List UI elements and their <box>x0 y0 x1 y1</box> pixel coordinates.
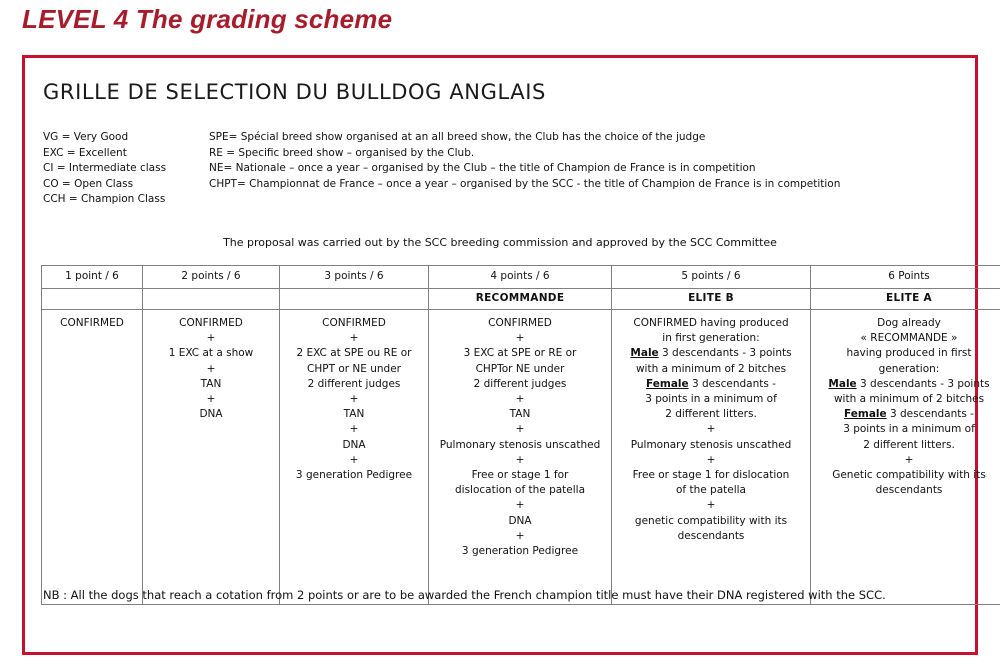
criteria-line: genetic compatibility with its <box>615 514 807 529</box>
table-header-grade-row: RECOMMANDEELITE BELITE A <box>42 289 1000 310</box>
criteria-line: Free or stage 1 for <box>432 468 608 483</box>
abbreviation-legend: VG = Very GoodSPE= Spécial breed show or… <box>43 130 963 208</box>
grade-label-cell <box>280 289 429 310</box>
points-header-cell: 3 points / 6 <box>280 266 429 289</box>
criteria-line: TAN <box>283 407 425 422</box>
points-header-cell: 5 points / 6 <box>612 266 811 289</box>
plus-separator: + <box>146 362 276 377</box>
criteria-line: Male 3 descendants - 3 points <box>615 346 807 361</box>
criteria-line: CONFIRMED <box>45 316 139 331</box>
criteria-line: generation: <box>814 362 1000 377</box>
grade-label-cell: ELITE A <box>811 289 1000 310</box>
grading-table-body: 1 point / 62 points / 63 points / 64 poi… <box>42 266 1000 605</box>
criteria-cell: CONFIRMED <box>42 310 143 605</box>
plus-separator: + <box>814 453 1000 468</box>
legend-description: CHPT= Championnat de France – once a yea… <box>209 177 963 193</box>
criteria-line: 2 EXC at SPE ou RE or <box>283 346 425 361</box>
legend-abbreviation: CI = Intermediate class <box>43 161 209 177</box>
legend-row: VG = Very GoodSPE= Spécial breed show or… <box>43 130 963 146</box>
criteria-line: CONFIRMED <box>432 316 608 331</box>
criteria-line: « RECOMMANDE » <box>814 331 1000 346</box>
legend-abbreviation: CO = Open Class <box>43 177 209 193</box>
legend-description: SPE= Spécial breed show organised at an … <box>209 130 963 146</box>
criteria-cell: CONFIRMED+2 EXC at SPE ou RE orCHPT or N… <box>280 310 429 605</box>
grade-label-cell <box>42 289 143 310</box>
grade-label-cell: ELITE B <box>612 289 811 310</box>
criteria-line: Female 3 descendants - <box>814 407 1000 422</box>
plus-separator: + <box>615 453 807 468</box>
criteria-line: 3 points in a minimum of <box>814 422 1000 437</box>
female-emphasis: Female <box>646 378 689 390</box>
criteria-line: Female 3 descendants - <box>615 377 807 392</box>
document-heading: GRILLE DE SELECTION DU BULLDOG ANGLAIS <box>43 80 546 104</box>
plus-separator: + <box>615 422 807 437</box>
criteria-line: CONFIRMED <box>283 316 425 331</box>
criteria-line: Genetic compatibility with its <box>814 468 1000 483</box>
nb-footer-note: NB : All the dogs that reach a cotation … <box>43 585 943 605</box>
criteria-line: 3 EXC at SPE or RE or <box>432 346 608 361</box>
legend-abbreviation: CCH = Champion Class <box>43 192 209 208</box>
points-header-cell: 4 points / 6 <box>429 266 612 289</box>
legend-description: RE = Specific breed show – organised by … <box>209 146 963 162</box>
female-emphasis: Female <box>844 408 887 420</box>
criteria-line: TAN <box>432 407 608 422</box>
criteria-line: 2 different litters. <box>615 407 807 422</box>
grading-table-wrapper: 1 point / 62 points / 63 points / 64 poi… <box>41 265 965 605</box>
grade-label-cell <box>143 289 280 310</box>
criteria-line: descendants <box>615 529 807 544</box>
criteria-line: dislocation of the patella <box>432 483 608 498</box>
legend-row: CO = Open ClassCHPT= Championnat de Fran… <box>43 177 963 193</box>
legend-row: CCH = Champion Class <box>43 192 963 208</box>
points-header-cell: 1 point / 6 <box>42 266 143 289</box>
plus-separator: + <box>146 331 276 346</box>
table-header-points-row: 1 point / 62 points / 63 points / 64 poi… <box>42 266 1000 289</box>
criteria-line: 3 points in a minimum of <box>615 392 807 407</box>
criteria-line: with a minimum of 2 bitches <box>615 362 807 377</box>
criteria-line: CONFIRMED <box>146 316 276 331</box>
criteria-line: Pulmonary stenosis unscathed <box>615 438 807 453</box>
points-header-cell: 2 points / 6 <box>143 266 280 289</box>
plus-separator: + <box>146 392 276 407</box>
criteria-line: with a minimum of 2 bitches <box>814 392 1000 407</box>
male-emphasis: Male <box>630 347 658 359</box>
criteria-line: Male 3 descendants - 3 points <box>814 377 1000 392</box>
criteria-line: 2 different litters. <box>814 438 1000 453</box>
criteria-line: Dog already <box>814 316 1000 331</box>
points-header-cell: 6 Points <box>811 266 1000 289</box>
criteria-cell: Dog already« RECOMMANDE »having produced… <box>811 310 1000 605</box>
criteria-cell: CONFIRMED+3 EXC at SPE or RE orCHPTor NE… <box>429 310 612 605</box>
criteria-line: Pulmonary stenosis unscathed <box>432 438 608 453</box>
plus-separator: + <box>283 422 425 437</box>
criteria-line: 2 different judges <box>283 377 425 392</box>
plus-separator: + <box>432 392 608 407</box>
criteria-line: in first generation: <box>615 331 807 346</box>
criteria-line: 3 generation Pedigree <box>432 544 608 559</box>
criteria-line: DNA <box>432 514 608 529</box>
criteria-line: CHPTor NE under <box>432 362 608 377</box>
legend-description: NE= Nationale – once a year – organised … <box>209 161 963 177</box>
legend-abbreviation: VG = Very Good <box>43 130 209 146</box>
criteria-line: of the patella <box>615 483 807 498</box>
legend-abbreviation: EXC = Excellent <box>43 146 209 162</box>
plus-separator: + <box>615 498 807 513</box>
criteria-line: Free or stage 1 for dislocation <box>615 468 807 483</box>
male-emphasis: Male <box>828 378 856 390</box>
table-row: CONFIRMEDCONFIRMED+1 EXC at a show+TAN+D… <box>42 310 1000 605</box>
criteria-line: 2 different judges <box>432 377 608 392</box>
legend-row: CI = Intermediate classNE= Nationale – o… <box>43 161 963 177</box>
plus-separator: + <box>432 529 608 544</box>
grade-label-cell: RECOMMANDE <box>429 289 612 310</box>
criteria-line: descendants <box>814 483 1000 498</box>
proposal-note: The proposal was carried out by the SCC … <box>25 236 975 249</box>
criteria-line: CHPT or NE under <box>283 362 425 377</box>
criteria-line: DNA <box>146 407 276 422</box>
criteria-cell: CONFIRMED+1 EXC at a show+TAN+DNA <box>143 310 280 605</box>
grading-table: 1 point / 62 points / 63 points / 64 poi… <box>41 265 1000 605</box>
criteria-cell: CONFIRMED having producedin first genera… <box>612 310 811 605</box>
plus-separator: + <box>283 331 425 346</box>
plus-separator: + <box>432 422 608 437</box>
page-title: LEVEL 4 The grading scheme <box>22 4 392 35</box>
criteria-line: having produced in first <box>814 346 1000 361</box>
plus-separator: + <box>432 453 608 468</box>
criteria-line: DNA <box>283 438 425 453</box>
document-card: GRILLE DE SELECTION DU BULLDOG ANGLAIS V… <box>22 55 978 655</box>
criteria-line: 3 generation Pedigree <box>283 468 425 483</box>
plus-separator: + <box>432 498 608 513</box>
plus-separator: + <box>432 331 608 346</box>
plus-separator: + <box>283 453 425 468</box>
legend-row: EXC = ExcellentRE = Specific breed show … <box>43 146 963 162</box>
criteria-line: CONFIRMED having produced <box>615 316 807 331</box>
plus-separator: + <box>283 392 425 407</box>
criteria-line: 1 EXC at a show <box>146 346 276 361</box>
criteria-line: TAN <box>146 377 276 392</box>
